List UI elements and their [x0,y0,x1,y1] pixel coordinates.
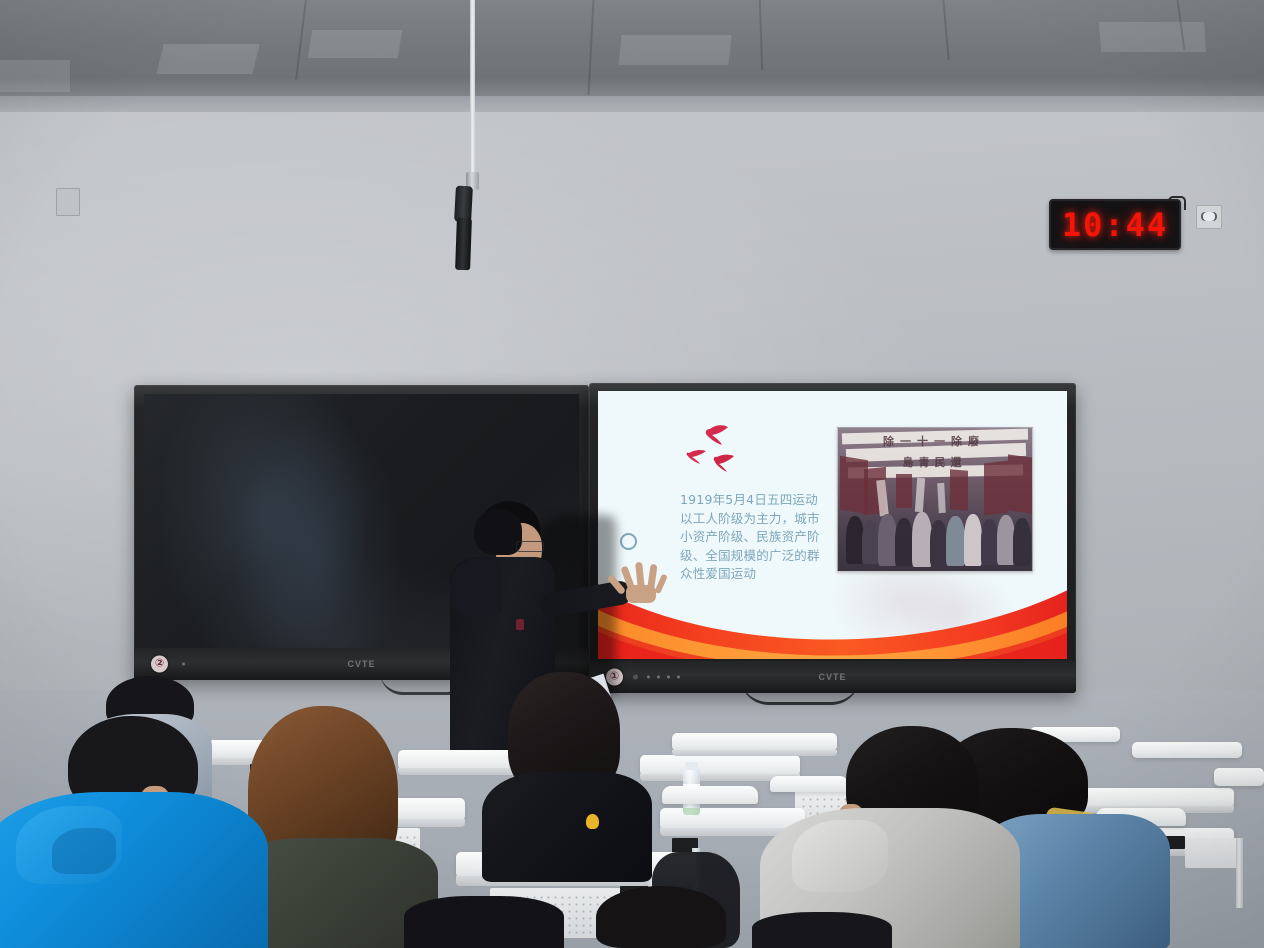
presenter-hand [618,557,662,601]
ceiling-light-panel [0,60,70,92]
photo-caption-line1: 除一十一除廢 [854,434,1014,449]
ceiling [0,0,1264,108]
photo-banner [915,478,925,512]
ceiling-seam [295,0,306,80]
ceiling-microphone [455,218,472,270]
photo-flag [1008,454,1032,513]
ceiling-light-panel [618,35,731,65]
ceiling-seam [588,0,594,95]
student-foreground-shoulder [404,896,564,948]
panel-brand-left: CVTE [347,659,375,669]
chair-back [662,786,758,804]
photo-flag [896,474,912,508]
student-hair [596,886,726,948]
photo-flag [950,469,968,511]
ceiling-light-panel [156,44,259,74]
classroom-photo: 10:44 ② CVTE [0,0,1264,948]
panel-indicator-dot [182,663,185,666]
ceiling-light-panel [1099,22,1206,52]
ceiling-seam [942,0,949,60]
ceiling-microphone-body [454,186,473,223]
student-jacket [482,772,652,882]
desk-leg [1236,838,1243,908]
student-foreground-shoulder [752,912,892,948]
bottle-base [683,808,700,815]
ceiling-light-panel [308,30,403,58]
student-blue-hoodie [0,710,330,948]
student-foreground-head [596,886,726,948]
red-doves-icon [684,419,756,477]
palm [626,585,656,603]
photo-banner [937,483,946,513]
student-black-jacket [478,672,668,872]
wall-plate [56,188,80,216]
desk [660,808,805,830]
finger [654,574,668,595]
student-hood [792,820,888,892]
display-cable [740,676,860,705]
photo-caption-line2: 島青民還 [882,456,987,470]
wall-digital-clock: 10:44 [1049,199,1181,250]
desk [1214,768,1264,786]
wall-outlet [1196,205,1222,229]
presenter-hood [450,559,502,617]
hood-inner [52,828,116,874]
panel-indicator-dot [677,676,680,679]
ceiling-seam [759,0,763,70]
presenter-glasses [516,541,544,552]
bottle-cap [685,762,698,770]
desk-modesty-panel [1185,838,1237,868]
jacket-badge [586,814,599,829]
ceiling-pole [470,0,475,176]
panel-number-badge-left: ② [151,656,168,673]
photo-flag [984,461,1008,516]
presenter-logo [516,619,524,630]
clock-time-display: 10:44 [1062,206,1168,244]
presenter-hair-front [474,509,522,555]
